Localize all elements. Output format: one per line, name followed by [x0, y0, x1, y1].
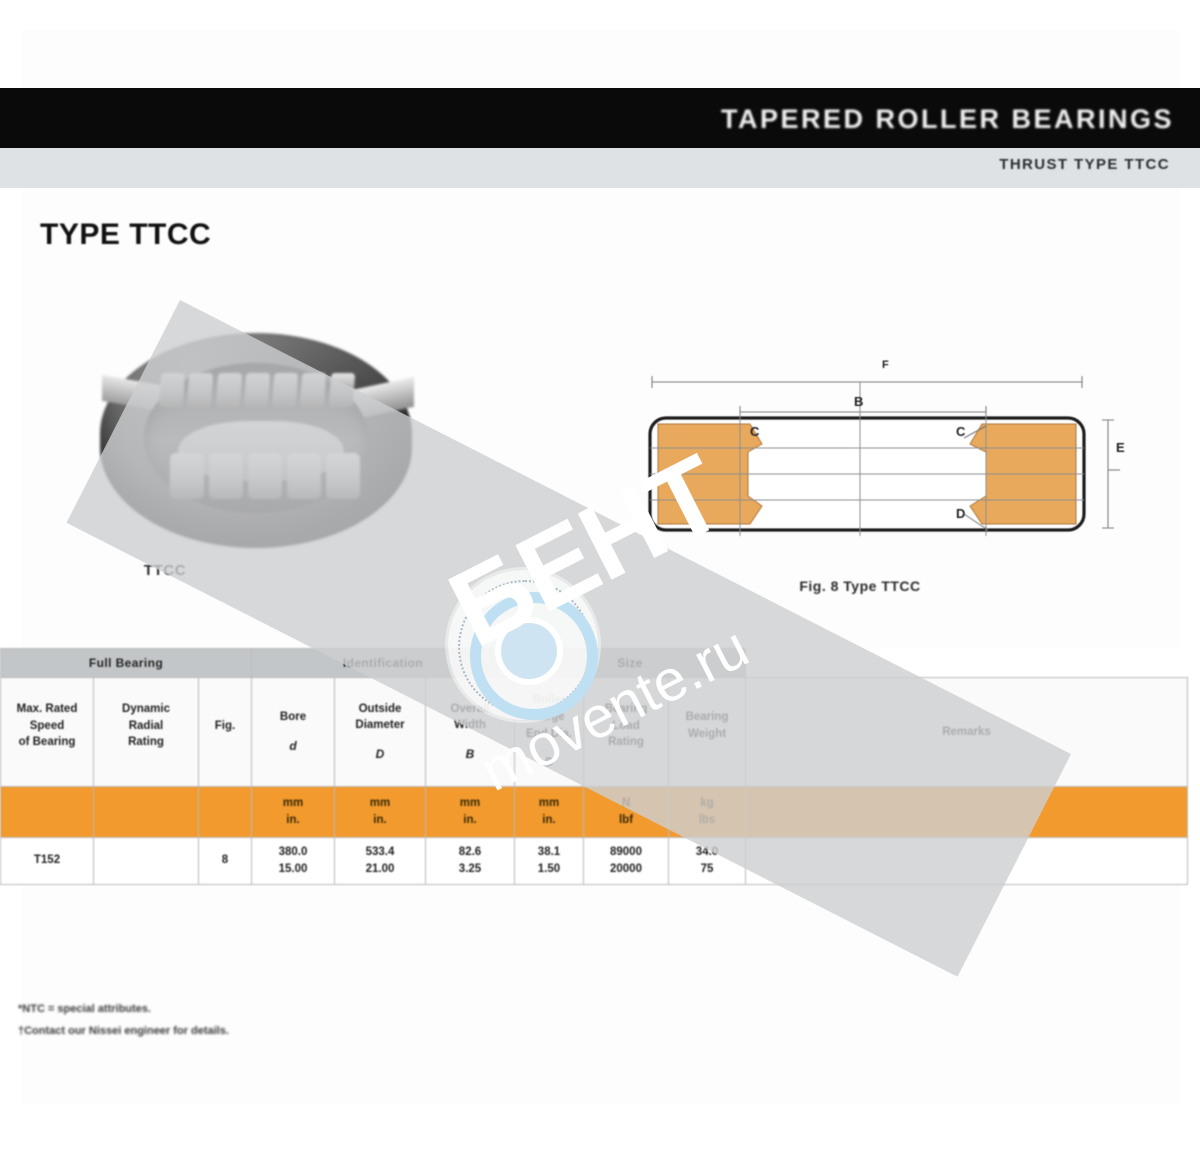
cell-bore: 380.0 15.00: [252, 838, 335, 885]
unit-cell-2: [199, 787, 252, 838]
footnotes: *NTC = special attributes. †Contact our …: [18, 998, 618, 1042]
col-header-bearing-load-rating: Bearing Load Rating: [584, 678, 669, 787]
unit-cell-outside-diameter: mm in.: [335, 787, 426, 838]
footnote-2: †Contact our Nissei engineer for details…: [18, 1020, 618, 1042]
technical-drawing: B C C D E F: [630, 340, 1140, 570]
table-column-header-row: Max. Rated Speed of Bearing Dynamic Radi…: [1, 678, 1188, 787]
cell-roller-large-end-dia: 38.1 1.50: [515, 838, 584, 885]
col-symbol: D: [335, 746, 425, 763]
unit-cell-overall-width: mm in.: [426, 787, 515, 838]
scan-edge-top: [0, 0, 1200, 30]
unit-cell-remarks: [746, 787, 1188, 838]
spec-table: Full Bearing Identification Size Max. Ra…: [0, 648, 1188, 885]
group-header-full-bearing: Full Bearing: [1, 649, 252, 678]
unit-cell-roller-dia: mm in.: [515, 787, 584, 838]
svg-text:C: C: [750, 424, 760, 439]
col-header-bearing-weight: Bearing Weight: [669, 678, 746, 787]
col-label: Bearing Weight: [686, 711, 729, 740]
col-label: Outside Diameter: [355, 703, 404, 732]
col-label: Bearing Load Rating: [605, 703, 648, 748]
figure-area: TTCC: [0, 290, 1200, 620]
unit-cell-1: [94, 787, 199, 838]
document-page: TAPERED ROLLER BEARINGS THRUST TYPE TTCC…: [0, 0, 1200, 1165]
col-label: Fig.: [215, 720, 235, 732]
col-header-outside-diameter: Outside Diameter D: [335, 678, 426, 787]
bearing-photo: [92, 325, 422, 560]
cell-bearing-load-rating: 89000 20000: [584, 838, 669, 885]
col-header-remarks: Remarks: [746, 678, 1188, 787]
col-header-roller-large-end-dia: Roller Large End Dia. D: [515, 678, 584, 787]
unit-cell-weight: kg lbs: [669, 787, 746, 838]
photo-caption: TTCC: [0, 562, 330, 579]
col-label: Max. Rated Speed of Bearing: [17, 703, 78, 748]
col-header-max-rated-speed: Max. Rated Speed of Bearing: [1, 678, 94, 787]
table-group-header-row: Full Bearing Identification Size: [1, 649, 1188, 678]
svg-text:B: B: [854, 394, 863, 409]
cell-fig: 8: [199, 838, 252, 885]
drawing-caption: Fig. 8 Type TTCC: [630, 578, 1090, 594]
group-header-size: Size: [515, 649, 746, 678]
col-header-bore: Bore d: [252, 678, 335, 787]
unit-cell-0: [1, 787, 94, 838]
col-header-fig: Fig.: [199, 678, 252, 787]
unit-cell-load-rating: N lbf: [584, 787, 669, 838]
col-header-dynamic-radial-rating: Dynamic Radial Rating: [94, 678, 199, 787]
col-label: Remarks: [942, 726, 991, 738]
page-title: TYPE TTCC: [40, 218, 211, 252]
scan-edge-bottom: [0, 1105, 1200, 1165]
svg-text:C: C: [956, 424, 966, 439]
footnote-1: *NTC = special attributes.: [18, 998, 618, 1020]
table-row[interactable]: T152 8 380.0 15.00 533.4 21.00 82.6 3.25…: [1, 838, 1188, 885]
svg-text:F: F: [882, 359, 889, 371]
svg-text:E: E: [1116, 440, 1125, 455]
col-symbol: B: [426, 746, 514, 763]
col-symbol: D: [515, 754, 583, 771]
cell-remarks: [746, 838, 1188, 885]
unit-cell-bore: mm in.: [252, 787, 335, 838]
cell-overall-width: 82.6 3.25: [426, 838, 515, 885]
cell-bearing-weight: 34.0 75: [669, 838, 746, 885]
group-header-blank: [746, 649, 1188, 678]
col-label: Dynamic Radial Rating: [122, 703, 170, 748]
table-units-row: mm in. mm in. mm in. mm in. N lbf kg lbs: [1, 787, 1188, 838]
col-label: Overall Width: [451, 703, 490, 732]
svg-text:D: D: [956, 506, 965, 521]
col-label: Bore: [280, 711, 306, 723]
header-subtitle: THRUST TYPE TTCC: [999, 156, 1170, 173]
cell-dynamic-radial-rating: [94, 838, 199, 885]
col-symbol: d: [252, 738, 334, 755]
col-header-overall-width: Overall Width B: [426, 678, 515, 787]
header-title: TAPERED ROLLER BEARINGS: [721, 104, 1174, 135]
col-label: Roller Large End Dia.: [526, 694, 572, 739]
group-header-identification: Identification: [252, 649, 515, 678]
cell-part-number: T152: [1, 838, 94, 885]
cell-outside-diameter: 533.4 21.00: [335, 838, 426, 885]
